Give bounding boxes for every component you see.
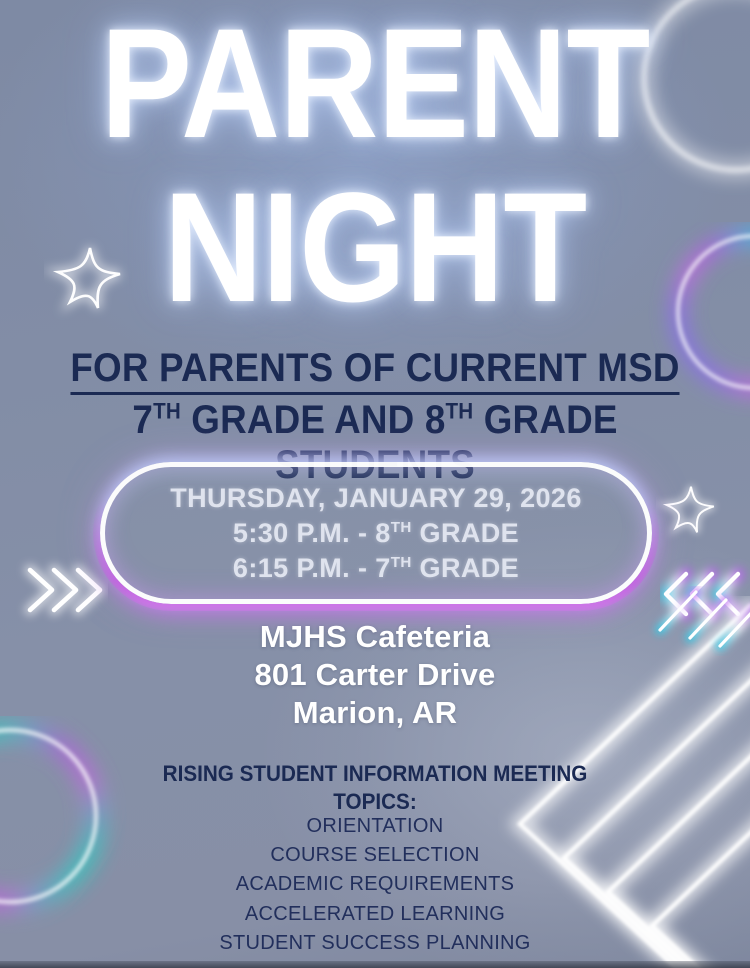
venue-name: MJHS Cafeteria — [0, 618, 750, 656]
schedule-pill: THURSDAY, JANUARY 29, 2026 5:30 P.M. - 8… — [100, 462, 652, 604]
subtitle-sup-th-1: TH — [153, 399, 181, 424]
schedule-date: THURSDAY, JANUARY 29, 2026 — [170, 483, 582, 514]
bottom-edge-strip — [0, 961, 750, 968]
subtitle-underlined-text: FOR PARENTS OF CURRENT MSD — [70, 346, 679, 395]
topics-list: ORIENTATION COURSE SELECTION ACADEMIC RE… — [0, 812, 750, 958]
subtitle-mid: GRADE AND 8 — [181, 398, 446, 442]
schedule-slot-2: 6:15 P.M. - 7TH GRADE — [233, 553, 519, 584]
slot2-time: 6:15 P.M. - 7 — [233, 553, 391, 583]
topics-heading-line-1: RISING STUDENT INFORMATION MEETING — [23, 760, 728, 788]
venue-street: 801 Carter Drive — [0, 656, 750, 694]
list-item: ORIENTATION — [0, 812, 750, 841]
venue-block: MJHS Cafeteria 801 Carter Drive Marion, … — [0, 618, 750, 731]
slot1-sup-th: TH — [391, 519, 412, 536]
schedule-pill-content: THURSDAY, JANUARY 29, 2026 5:30 P.M. - 8… — [100, 462, 652, 604]
slot1-tail: GRADE — [412, 518, 519, 548]
topics-heading: RISING STUDENT INFORMATION MEETING TOPIC… — [23, 760, 728, 815]
flyer-title-line-1: PARENT — [45, 12, 705, 157]
list-item: COURSE SELECTION — [0, 841, 750, 870]
list-item: ACCELERATED LEARNING — [0, 900, 750, 929]
subtitle-sup-th-2: TH — [446, 399, 474, 424]
venue-city-state: Marion, AR — [0, 694, 750, 732]
slot2-tail: GRADE — [412, 553, 519, 583]
flyer-title-line-2: NIGHT — [45, 176, 705, 321]
flyer-subtitle-line-1: FOR PARENTS OF CURRENT MSD — [30, 346, 720, 391]
slot2-sup-th: TH — [391, 554, 412, 571]
slot1-time: 5:30 P.M. - 8 — [233, 518, 391, 548]
list-item: STUDENT SUCCESS PLANNING — [0, 929, 750, 958]
topics-heading-line-2: TOPICS: — [23, 788, 728, 816]
schedule-slot-1: 5:30 P.M. - 8TH GRADE — [233, 518, 519, 549]
list-item: ACADEMIC REQUIREMENTS — [0, 870, 750, 899]
subtitle-grade-7: 7 — [132, 398, 153, 442]
flyer-canvas: PARENT NIGHT FOR PARENTS OF CURRENT MSD … — [0, 0, 750, 968]
triple-chevron-right-icon — [16, 552, 108, 628]
